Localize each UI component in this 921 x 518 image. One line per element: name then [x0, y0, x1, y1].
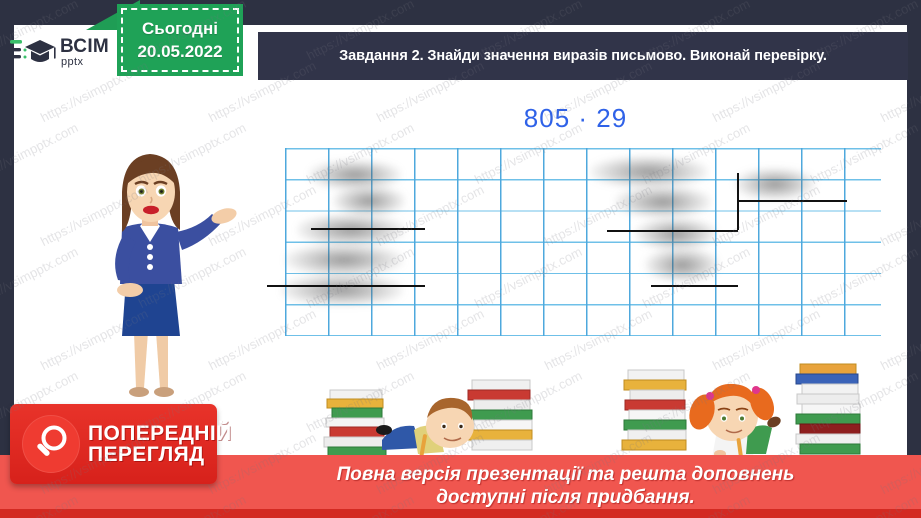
blurred-work-right-1	[590, 156, 708, 188]
magnifier-icon	[22, 415, 80, 473]
date-badge-label: Сьогодні	[142, 19, 218, 39]
girl-figure	[685, 384, 782, 462]
blurred-work-left-1	[309, 160, 401, 190]
task-title-bar: Завдання 2. Знайди значення виразів пись…	[258, 32, 908, 80]
watermark-text: https://vsimpptx.com	[66, 0, 178, 1]
book-stack-right-2	[796, 364, 860, 454]
banner-line-1: Повна версія презентації та решта доповн…	[337, 464, 795, 486]
expression-row: 805 · 29	[0, 103, 921, 134]
preview-button-line-1: ПОПЕРЕДНІЙ	[88, 423, 232, 444]
book-stack-left	[324, 390, 386, 457]
division-divisor-rule	[607, 230, 738, 232]
teacher-character	[72, 150, 248, 400]
watermark-text: https://vsimpptx.com	[402, 0, 514, 1]
book-stack-left-2	[468, 380, 532, 450]
blurred-work-left-2	[333, 186, 405, 216]
date-badge: Сьогодні 20.05.2022	[117, 4, 243, 76]
blurred-work-right-3	[635, 218, 717, 250]
blurred-work-right-4	[645, 248, 719, 282]
preview-button[interactable]: ПОПЕРЕДНІЙ ПЕРЕГЛЯД	[10, 404, 217, 484]
watermark-text: https://vsimpptx.com	[570, 0, 682, 1]
multiplication-rule-1	[311, 228, 425, 230]
watermark-text: https://vsimpptx.com	[234, 0, 346, 1]
preview-button-line-2: ПЕРЕГЛЯД	[88, 444, 232, 465]
worksheet-grid	[285, 148, 881, 336]
division-step-rule	[651, 285, 738, 287]
division-quotient-rule	[737, 200, 847, 202]
girl-with-books	[620, 362, 872, 468]
blurred-work-left-4	[285, 244, 403, 276]
math-expression: 805 · 29	[294, 103, 627, 133]
book-stack-right-1	[622, 370, 686, 450]
task-title: Завдання 2. Знайди значення виразів пись…	[339, 48, 827, 64]
date-badge-value: 20.05.2022	[137, 42, 222, 62]
graduation-cap-icon	[10, 35, 56, 69]
banner-line-2: доступні після придбання.	[436, 487, 695, 509]
watermark-text: https://vsimpptx.com	[906, 0, 921, 1]
brand-logo: ВСІМ pptx	[10, 30, 122, 74]
blurred-work-right-2	[615, 186, 711, 218]
blurred-work-right-quotient	[735, 168, 815, 200]
slide-root: ВСІМ pptx Сьогодні 20.05.2022 Завдання 2…	[0, 0, 921, 518]
blurred-work-left-5	[281, 274, 403, 306]
logo-title: ВСІМ	[60, 37, 109, 56]
watermark-text: https://vsimpptx.com	[738, 0, 850, 1]
logo-subtitle: pptx	[61, 57, 109, 68]
boy-with-books	[322, 368, 540, 468]
boy-figure	[376, 398, 474, 463]
watermark-text: https://vsimpptx.com	[0, 0, 10, 1]
multiplication-rule-2	[267, 285, 425, 287]
